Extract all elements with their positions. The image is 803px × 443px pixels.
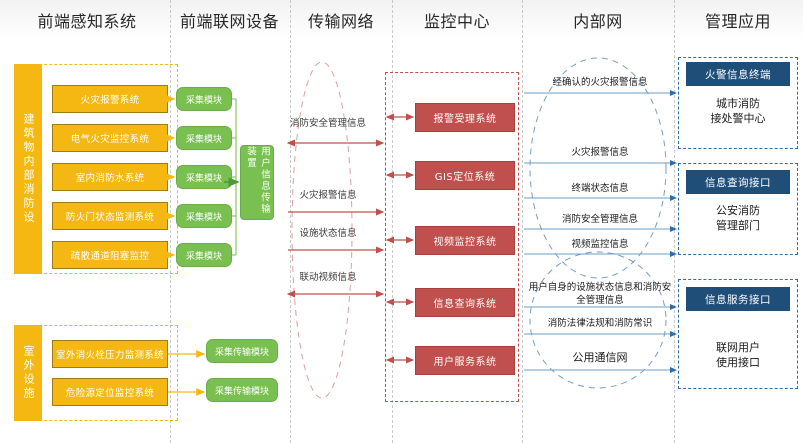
panel-body-info-query-interface: 公安消防管理部门 [686, 203, 790, 233]
flow-label-fire-law-knowledge: 消防法律法规和消防常识 [524, 318, 676, 330]
flow-label-public-comm-network: 公用通信网 [524, 352, 676, 364]
column-title-internal-network: 内部网 [524, 8, 672, 32]
column-divider-4 [522, 0, 523, 443]
collect-module-4[interactable]: 采集模块 [176, 204, 232, 228]
flow-label-user-own-facility-status: 用户自身的设施状态信息和消防安全管理信息 [527, 281, 673, 307]
collect-transmit-module-1[interactable]: 采集传输模块 [206, 339, 278, 363]
flow-label-video-monitor-info: 视频监控信息 [524, 239, 676, 251]
collect-module-5[interactable]: 采集模块 [176, 243, 232, 267]
column-title-management-apps: 管理应用 [676, 8, 800, 32]
center-system-info-query[interactable]: 信息查询系统 [415, 288, 515, 317]
column-title-front-end-devices: 前端联网设备 [172, 8, 287, 32]
group-bar-building-indoor: 建筑物内部消防设 [14, 64, 42, 274]
column-divider-2 [290, 0, 291, 443]
panel-header-info-query-interface[interactable]: 信息查询接口 [686, 170, 790, 194]
user-info-transmission-device[interactable]: 用户信息传输装置 [240, 145, 274, 220]
collect-module-3[interactable]: 采集模块 [176, 165, 232, 189]
sensing-system-electrical-fire[interactable]: 电气火灾监控系统 [52, 124, 168, 152]
flow-label-fire-alarm: 火灾报警信息 [524, 147, 676, 159]
diagram-canvas: 前端感知系统 前端联网设备 传输网络 监控中心 内部网 管理应用 建筑物内部消防… [0, 0, 803, 443]
center-system-gis-location[interactable]: GIS定位系统 [415, 161, 515, 190]
sensing-system-fire-alarm[interactable]: 火灾报警系统 [52, 85, 168, 113]
sensing-system-fire-door[interactable]: 防火门状态监测系统 [52, 202, 168, 230]
sensing-system-hydrant-pressure[interactable]: 室外消火栓压力监测系统 [52, 340, 168, 368]
collect-module-1[interactable]: 采集模块 [176, 87, 232, 111]
center-system-alarm-acceptance[interactable]: 报警受理系统 [415, 103, 515, 132]
flow-label-confirmed-fire-alarm: 经确认的火灾报警信息 [524, 77, 676, 89]
panel-header-info-service-interface[interactable]: 信息服务接口 [686, 287, 790, 311]
panel-header-fire-alarm-terminal[interactable]: 火警信息终端 [686, 62, 790, 86]
flow-label-fire-safety-mgmt: 消防安全管理信息 [524, 214, 676, 226]
sensing-system-hazard-source[interactable]: 危险源定位监控系统 [52, 378, 168, 406]
sensing-system-indoor-water[interactable]: 室内消防水系统 [52, 163, 168, 191]
column-title-monitoring-center: 监控中心 [394, 8, 520, 32]
panel-body-fire-alarm-terminal: 城市消防接处警中心 [686, 96, 790, 126]
flow-label-fire-safety-mgmt-info: 消防安全管理信息 [288, 118, 368, 130]
column-title-front-end-sensing: 前端感知系统 [12, 8, 162, 32]
flow-label-facility-status-info: 设施状态信息 [286, 228, 370, 240]
group-bar-outdoor: 室外设施 [14, 325, 42, 421]
center-system-user-service[interactable]: 用户服务系统 [415, 346, 515, 375]
collect-transmit-module-2[interactable]: 采集传输模块 [206, 378, 278, 402]
panel-body-info-service-interface: 联网用户使用接口 [686, 340, 790, 370]
flow-label-fire-alarm-info: 火灾报警信息 [286, 190, 370, 202]
flow-label-linked-video-info: 联动视频信息 [286, 272, 370, 284]
center-system-video-monitor[interactable]: 视频监控系统 [415, 226, 515, 255]
collect-module-2[interactable]: 采集模块 [176, 126, 232, 150]
flow-label-terminal-status: 终端状态信息 [524, 183, 676, 195]
sensing-system-evacuation-block[interactable]: 疏散通道阻塞监控 [52, 241, 168, 269]
column-title-transmission-network: 传输网络 [292, 8, 390, 32]
